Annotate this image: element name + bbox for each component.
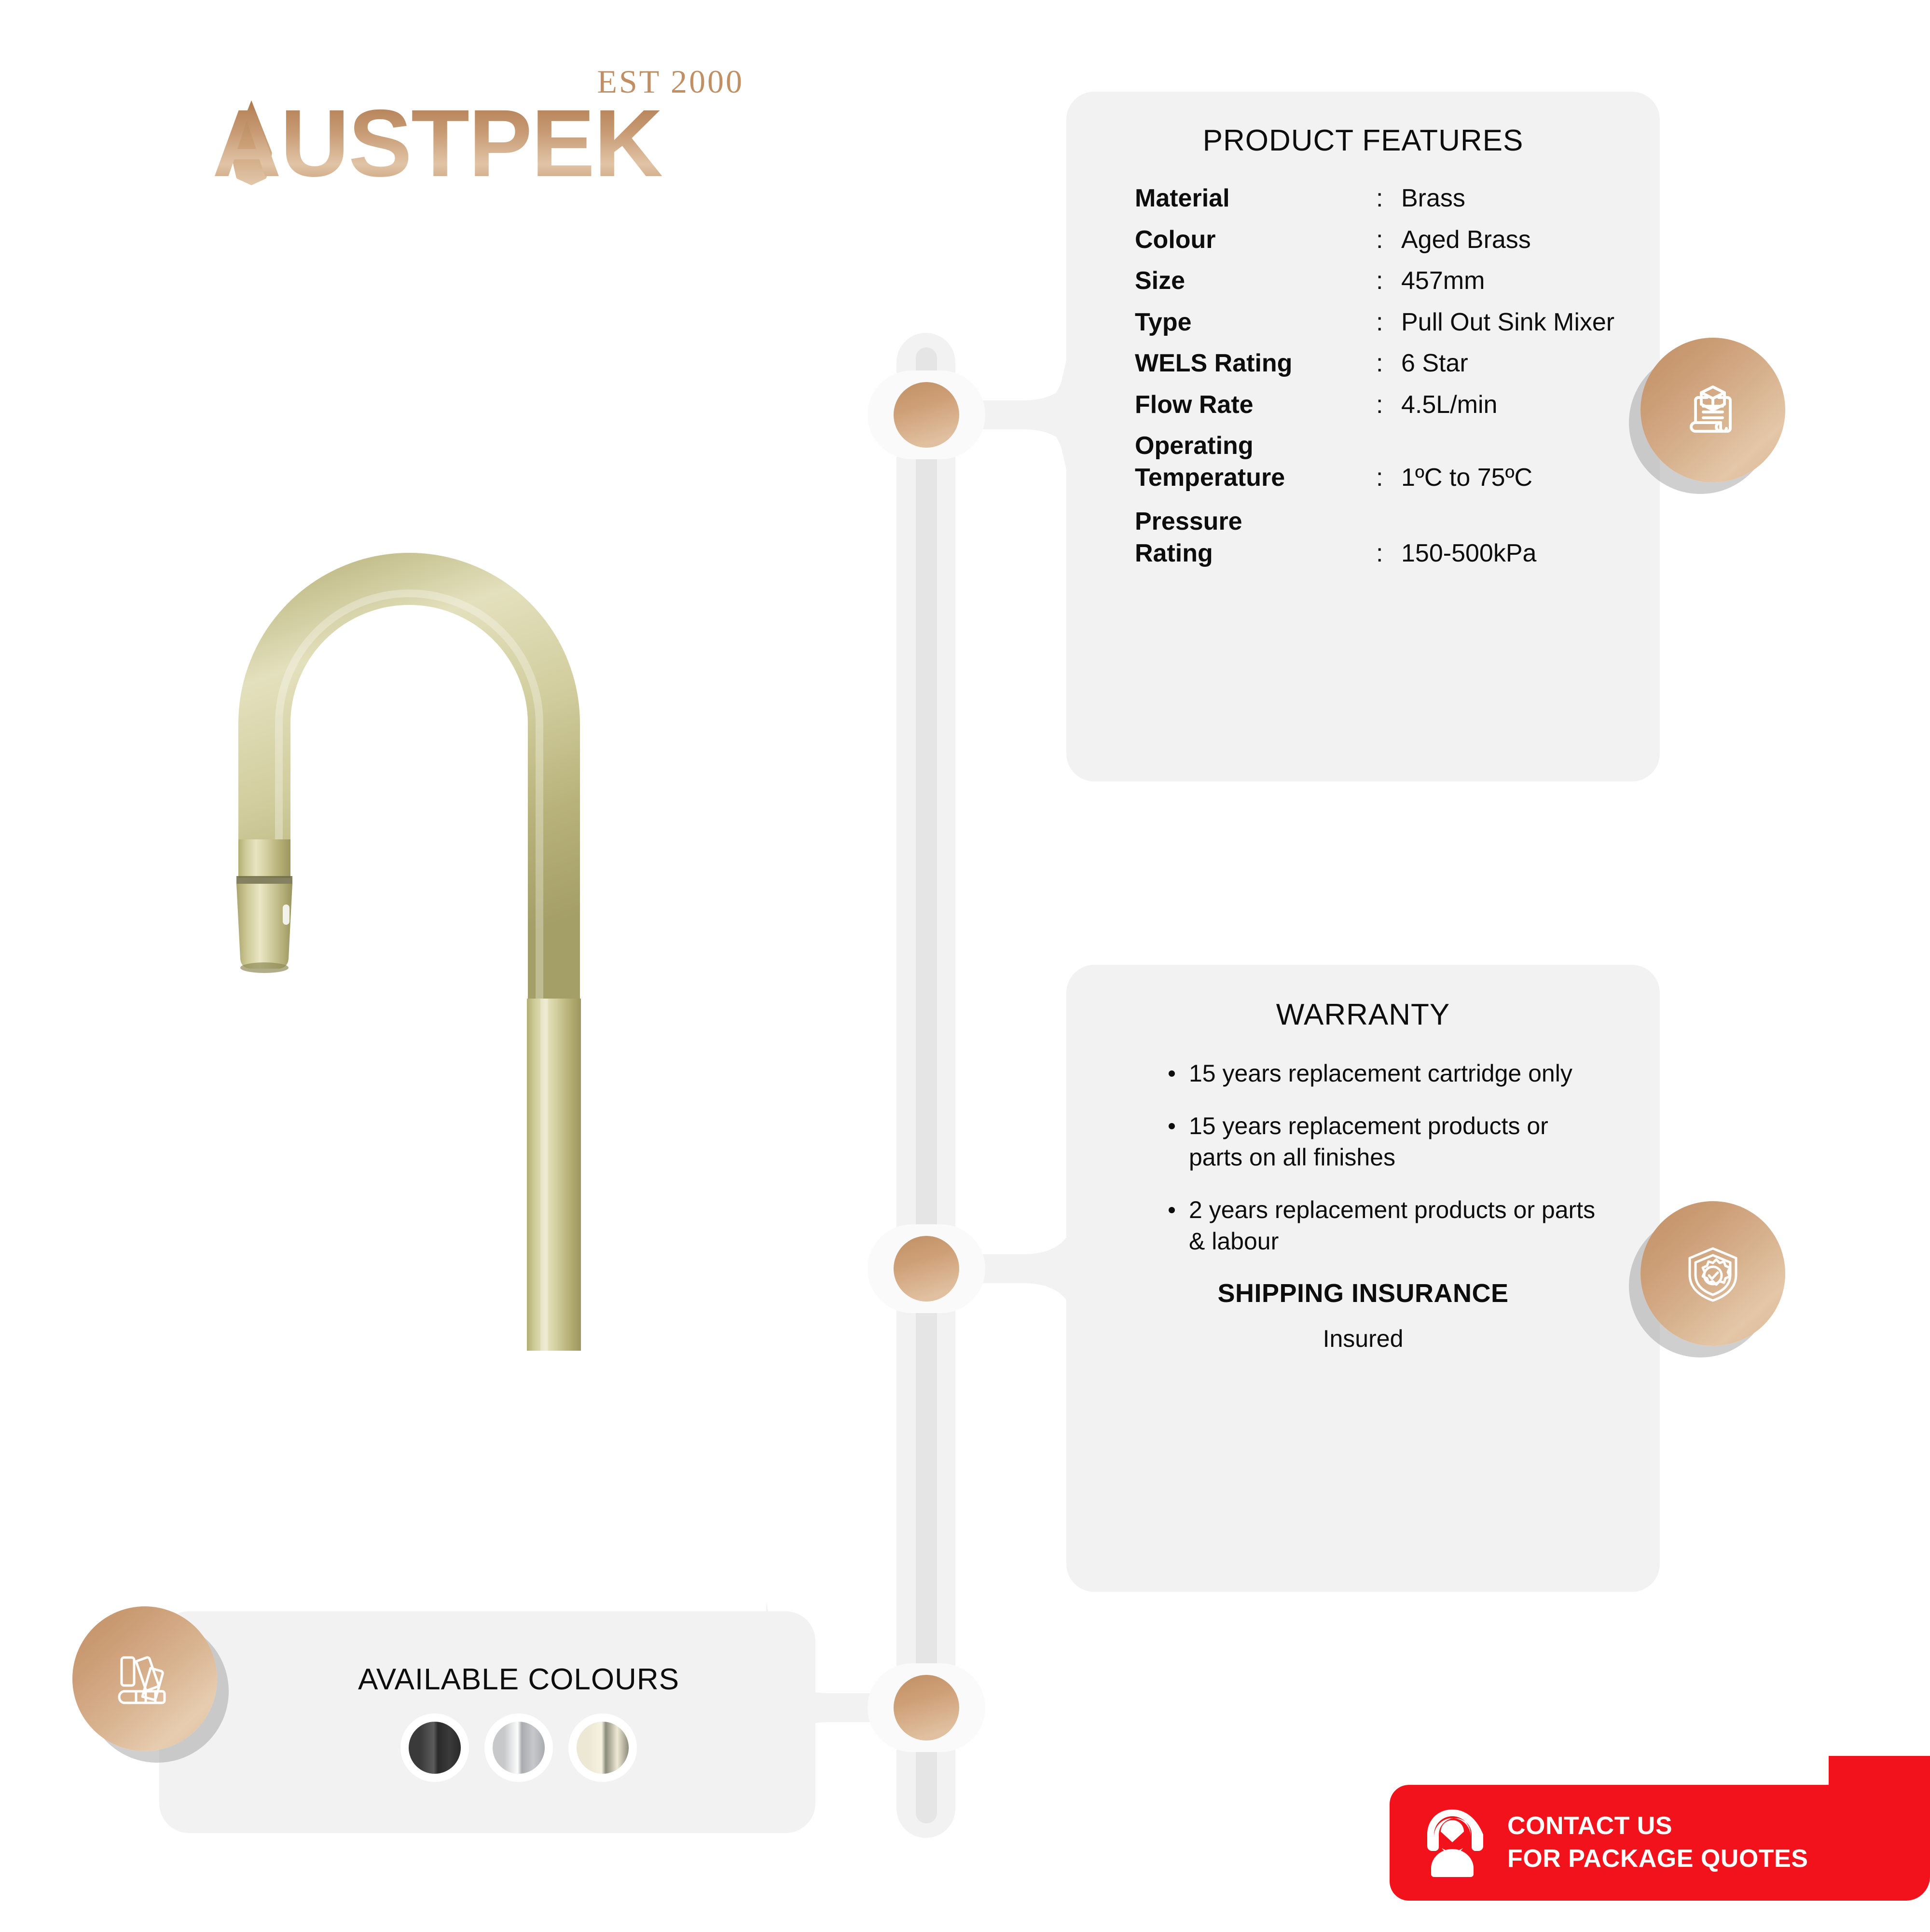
warranty-bullet-list: 15 years replacement cartridge only15 ye… [1066,1058,1660,1257]
feature-value: Aged Brass [1401,224,1660,256]
feature-row: Material:Brass [1135,183,1660,215]
warranty-bullet: 15 years replacement cartridge only [1169,1058,1607,1089]
available-colours-panel: AVAILABLE COLOURS [159,1611,815,1833]
shipping-insurance-value: Insured [1066,1325,1660,1353]
feature-separator: : [1376,224,1401,256]
feature-value: Pull Out Sink Mixer [1401,307,1660,339]
feature-separator: : [1376,265,1401,297]
feature-row: Size:457mm [1135,265,1660,297]
brand-wordmark: AUSTPEK [212,96,662,191]
feature-separator: : [1376,538,1401,570]
feature-value: 150-500kPa [1401,538,1660,570]
warranty-bullet: 2 years replacement products or parts & … [1169,1194,1607,1257]
feature-label: Pressure Rating [1135,506,1376,569]
feature-value: 457mm [1401,265,1660,297]
spine-node-3 [868,1663,985,1752]
product-spec-document-icon [1640,338,1785,482]
contact-us-text: CONTACT US FOR PACKAGE QUOTES [1507,1810,1808,1875]
feature-value: 6 Star [1401,348,1660,380]
contact-us-banner[interactable]: CONTACT US FOR PACKAGE QUOTES [1390,1785,1930,1901]
feature-label: Size [1135,265,1376,297]
feature-label: WELS Rating [1135,348,1376,380]
feature-label: Operating Temperature [1135,430,1376,493]
brand-logo: EST 2000 AUSTPEK [212,63,753,207]
product-image-pull-out-sink-mixer: hot cold [159,434,762,1351]
feature-row: Operating Temperature:1ºC to 75ºC [1135,430,1660,493]
feature-value: Brass [1401,183,1660,215]
feature-value: 4.5L/min [1401,389,1660,421]
feature-label: Colour [1135,224,1376,256]
contact-line-2: FOR PACKAGE QUOTES [1507,1843,1808,1876]
feature-row: Type:Pull Out Sink Mixer [1135,307,1660,339]
feature-row: Colour:Aged Brass [1135,224,1660,256]
colour-palette-swatch-icon [72,1606,217,1751]
feature-row: Flow Rate:4.5L/min [1135,389,1660,421]
colour-swatch-chrome[interactable] [493,1722,545,1774]
feature-separator: : [1376,307,1401,339]
feature-separator: : [1376,183,1401,215]
available-colours-title: AVAILABLE COLOURS [159,1662,815,1697]
feature-separator: : [1376,462,1401,494]
feature-label: Type [1135,307,1376,339]
warranty-title: WARRANTY [1066,998,1660,1032]
feature-label: Flow Rate [1135,389,1376,421]
contact-line-1: CONTACT US [1507,1810,1808,1843]
feature-row: WELS Rating:6 Star [1135,348,1660,380]
warranty-bullet: 15 years replacement products or parts o… [1169,1110,1607,1173]
spine-node-2 [868,1224,985,1313]
feature-label: Material [1135,183,1376,215]
spine-node-1 [868,370,985,459]
colour-swatch-brushed-brass[interactable] [577,1722,629,1774]
shield-check-badge-icon [1640,1201,1785,1346]
feature-row: Pressure Rating:150-500kPa [1135,506,1660,569]
support-headset-agent-icon [1420,1807,1485,1879]
product-features-panel: PRODUCT FEATURES Material:BrassColour:Ag… [1066,92,1660,781]
feature-value: 1ºC to 75ºC [1401,462,1660,494]
product-features-title: PRODUCT FEATURES [1066,123,1660,158]
feature-separator: : [1376,389,1401,421]
shipping-insurance-title: SHIPPING INSURANCE [1066,1278,1660,1308]
colour-swatch-matte-black[interactable] [409,1722,461,1774]
product-features-list: Material:BrassColour:Aged BrassSize:457m… [1066,183,1660,569]
warranty-panel: WARRANTY 15 years replacement cartridge … [1066,965,1660,1592]
colour-swatch-row [159,1722,815,1774]
feature-separator: : [1376,348,1401,380]
